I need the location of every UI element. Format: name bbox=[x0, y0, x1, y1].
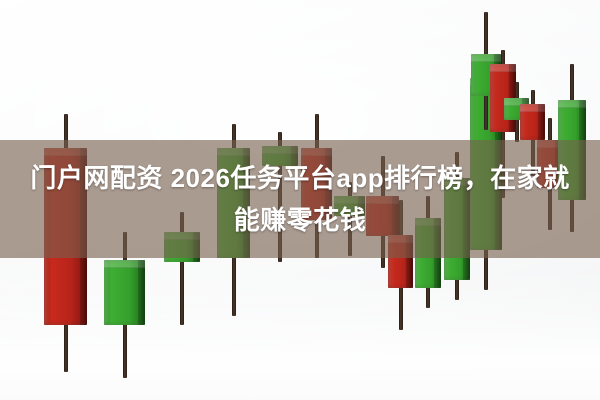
candlestick-banner: 门户网配资 2026任务平台app排行榜，在家就 能赚零花钱 bbox=[0, 0, 600, 400]
candle-body bbox=[104, 260, 145, 325]
overlay-line-1: 门户网配资 2026任务平台app排行榜，在家就 bbox=[30, 158, 569, 198]
candle-body-side-face bbox=[138, 260, 145, 325]
overlay-line-2: 能赚零花钱 bbox=[234, 200, 367, 240]
text-overlay-band: 门户网配资 2026任务平台app排行榜，在家就 能赚零花钱 bbox=[0, 140, 600, 258]
